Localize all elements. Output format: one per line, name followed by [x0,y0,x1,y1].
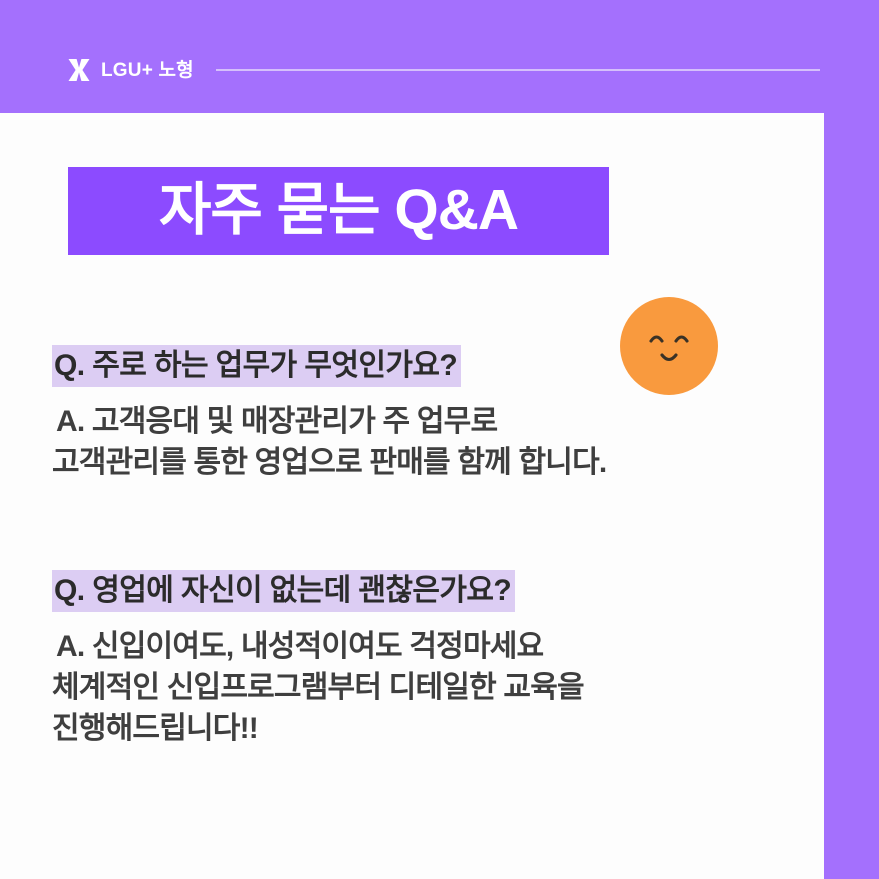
faq-answer-line: A. 신입이여도, 내성적이여도 걱정마세요 [52,626,584,667]
content-card: 자주 묻는 Q&A Q. 주로 하는 업무가 무엇인가요? A. 고객응대 및 … [0,113,824,879]
faq-answer: A. 고객응대 및 매장관리가 주 업무로 고객관리를 통한 영업으로 판매를 … [52,401,606,483]
faq-answer-line: 체계적인 신입프로그램부터 디테일한 교육을 [52,667,584,708]
poster-header: LGU+ 노형 [0,0,879,113]
faq-question: Q. 주로 하는 업무가 무엇인가요? [52,345,461,387]
title-banner: 자주 묻는 Q&A [68,167,609,255]
header-divider [216,69,820,71]
lgu-x-mark-icon [66,57,92,83]
page-title: 자주 묻는 Q&A [159,182,518,239]
faq-item: Q. 영업에 자신이 없는데 괜찮은가요? A. 신입이여도, 내성적이여도 걱… [52,570,584,749]
faq-answer-line: 고객관리를 통한 영업으로 판매를 함께 합니다. [52,442,606,483]
faq-answer-line: A. 고객응대 및 매장관리가 주 업무로 [52,401,606,442]
faq-question: Q. 영업에 자신이 없는데 괜찮은가요? [52,570,515,612]
brand-lockup: LGU+ 노형 [66,54,194,86]
faq-answer-line: 진행해드립니다!! [52,708,584,749]
brand-name: LGU+ 노형 [101,61,194,80]
faq-item: Q. 주로 하는 업무가 무엇인가요? A. 고객응대 및 매장관리가 주 업무… [52,345,606,483]
faq-answer: A. 신입이여도, 내성적이여도 걱정마세요 체계적인 신입프로그램부터 디테일… [52,626,584,749]
faq-poster: LGU+ 노형 자주 묻는 Q&A Q. 주로 하는 업무가 무엇인가요? A.… [0,0,879,879]
smiling-face-icon [620,297,718,395]
